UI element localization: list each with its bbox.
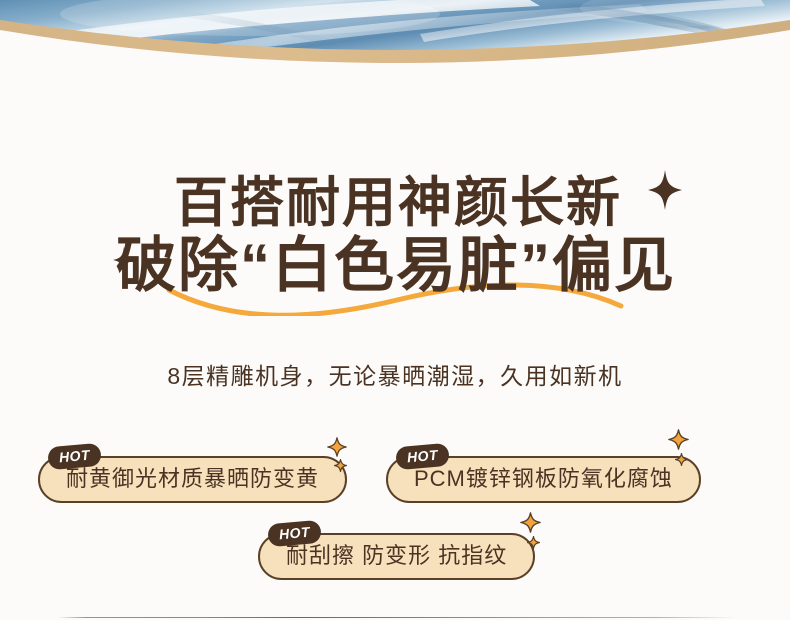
sparkle-orange-icon <box>668 429 689 450</box>
headline-line-2: 破除“白色易脏”偏见 <box>0 236 790 296</box>
product-feature-page: 百搭耐用神颜长新 破除“白色易脏”偏见 8层精雕机身，无论暴晒潮湿，久用如新机 … <box>0 0 790 620</box>
feature-tag-3-label: 耐刮擦 防变形 抗指纹 <box>286 543 507 568</box>
subtitle: 8层精雕机身，无论暴晒潮湿，久用如新机 <box>0 357 790 391</box>
sparkle-orange-icon <box>327 437 347 457</box>
feature-tag-1-pill[interactable]: HOT 耐黄御光材质暴晒防变黄 <box>38 456 347 503</box>
hero-banner <box>0 0 790 86</box>
feature-tag-1[interactable]: HOT 耐黄御光材质暴晒防变黄 <box>38 456 347 503</box>
hero-banner-graphic <box>0 0 790 86</box>
headline-line-2-text: 破除“白色易脏”偏见 <box>116 232 676 299</box>
feature-tag-3[interactable]: HOT 耐刮擦 防变形 抗指纹 <box>258 533 535 580</box>
feature-tag-2[interactable]: HOT PCM镀锌钢板防氧化腐蚀 <box>386 456 701 503</box>
bottom-divider <box>58 617 738 618</box>
feature-tag-2-label: PCM镀锌钢板防氧化腐蚀 <box>414 466 673 491</box>
headline-line-1-text: 百搭耐用神颜长新 <box>174 173 622 233</box>
headline-block: 百搭耐用神颜长新 破除“白色易脏”偏见 <box>0 176 790 296</box>
feature-tag-1-label: 耐黄御光材质暴晒防变黄 <box>66 466 319 491</box>
headline-line-1: 百搭耐用神颜长新 <box>0 176 790 230</box>
sparkle-orange-icon <box>520 512 541 533</box>
feature-tag-2-pill[interactable]: HOT PCM镀锌钢板防氧化腐蚀 <box>386 456 701 503</box>
feature-tag-3-pill[interactable]: HOT 耐刮擦 防变形 抗指纹 <box>258 533 535 580</box>
